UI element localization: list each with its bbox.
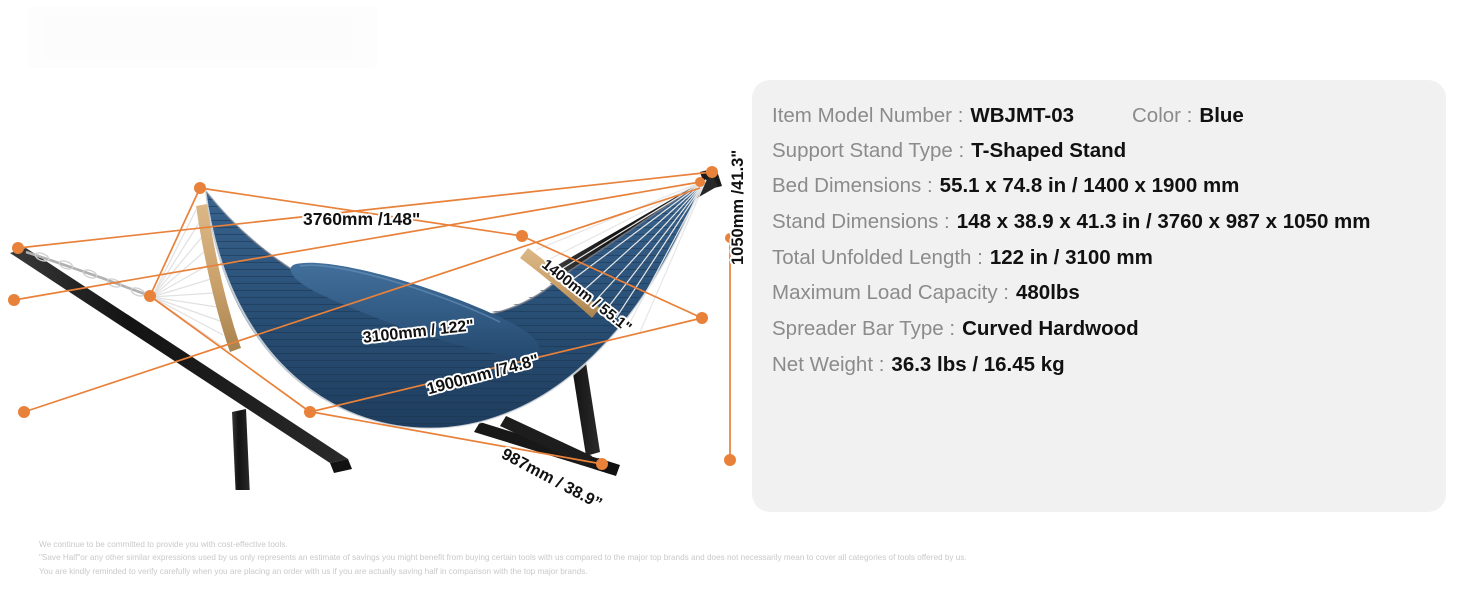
spec-value-stand-type: T-Shaped Stand bbox=[971, 138, 1126, 164]
spec-item-color: Color : Blue bbox=[1132, 104, 1244, 128]
spec-item-model: Item Model Number : WBJMT-03 bbox=[772, 104, 1132, 128]
product-spec-page: 3760mm /148" 3100mm / 122" 1900mm /74.8"… bbox=[0, 0, 1464, 600]
spec-value-stand-dimensions: 148 x 38.9 x 41.3 in / 3760 x 987 x 1050… bbox=[957, 209, 1371, 235]
product-illustration: 3760mm /148" 3100mm / 122" 1900mm /74.8"… bbox=[0, 60, 750, 490]
spec-row-model-and-color: Item Model Number : WBJMT-03 Color : Blu… bbox=[772, 104, 1446, 128]
disclaimer-line-1: We continue to be committed to provide y… bbox=[39, 538, 1239, 551]
spec-label-max-load-capacity: Maximum Load Capacity : bbox=[772, 280, 1009, 306]
spec-value-spreader-bar-type: Curved Hardwood bbox=[962, 316, 1139, 342]
spec-row-total-unfolded-length: Total Unfolded Length : 122 in / 3100 mm bbox=[772, 245, 1446, 271]
spec-row-net-weight: Net Weight : 36.3 lbs / 16.45 kg bbox=[772, 352, 1446, 378]
spec-value-net-weight: 36.3 lbs / 16.45 kg bbox=[891, 352, 1064, 378]
spec-label-spreader-bar-type: Spreader Bar Type : bbox=[772, 316, 955, 342]
spec-label-model: Item Model Number : bbox=[772, 104, 963, 128]
spec-value-model: WBJMT-03 bbox=[970, 104, 1074, 128]
disclaimer-line-3: You are kindly reminded to verify carefu… bbox=[39, 565, 1239, 578]
spec-label-stand-type: Support Stand Type : bbox=[772, 138, 964, 164]
spec-row-spreader-bar-type: Spreader Bar Type : Curved Hardwood bbox=[772, 316, 1446, 342]
spec-value-max-load-capacity: 480lbs bbox=[1016, 280, 1080, 306]
spec-row-bed-dimensions: Bed Dimensions : 55.1 x 74.8 in / 1400 x… bbox=[772, 173, 1446, 199]
spec-row-max-load-capacity: Maximum Load Capacity : 480lbs bbox=[772, 280, 1446, 306]
dimension-label-stand-height: 1050mm /41.3" bbox=[729, 150, 748, 265]
watermark-logo bbox=[28, 6, 378, 68]
spec-label-color: Color : bbox=[1132, 104, 1192, 128]
specification-panel: Item Model Number : WBJMT-03 Color : Blu… bbox=[752, 80, 1446, 512]
spec-value-bed-dimensions: 55.1 x 74.8 in / 1400 x 1900 mm bbox=[940, 173, 1240, 199]
spec-value-total-unfolded-length: 122 in / 3100 mm bbox=[990, 245, 1153, 271]
spec-label-total-unfolded-length: Total Unfolded Length : bbox=[772, 245, 983, 271]
spec-label-stand-dimensions: Stand Dimensions : bbox=[772, 209, 950, 235]
dimension-label-overall-length: 3760mm /148" bbox=[303, 209, 420, 230]
spec-label-net-weight: Net Weight : bbox=[772, 352, 884, 378]
disclaimer-line-2: "Save Half"or any other similar expressi… bbox=[39, 551, 1239, 564]
disclaimer-text: We continue to be committed to provide y… bbox=[39, 538, 1239, 578]
spec-value-color: Blue bbox=[1199, 104, 1243, 128]
spec-row-stand-dimensions: Stand Dimensions : 148 x 38.9 x 41.3 in … bbox=[772, 209, 1446, 235]
spec-row-stand-type: Support Stand Type : T-Shaped Stand bbox=[772, 138, 1446, 164]
spec-label-bed-dimensions: Bed Dimensions : bbox=[772, 173, 933, 199]
